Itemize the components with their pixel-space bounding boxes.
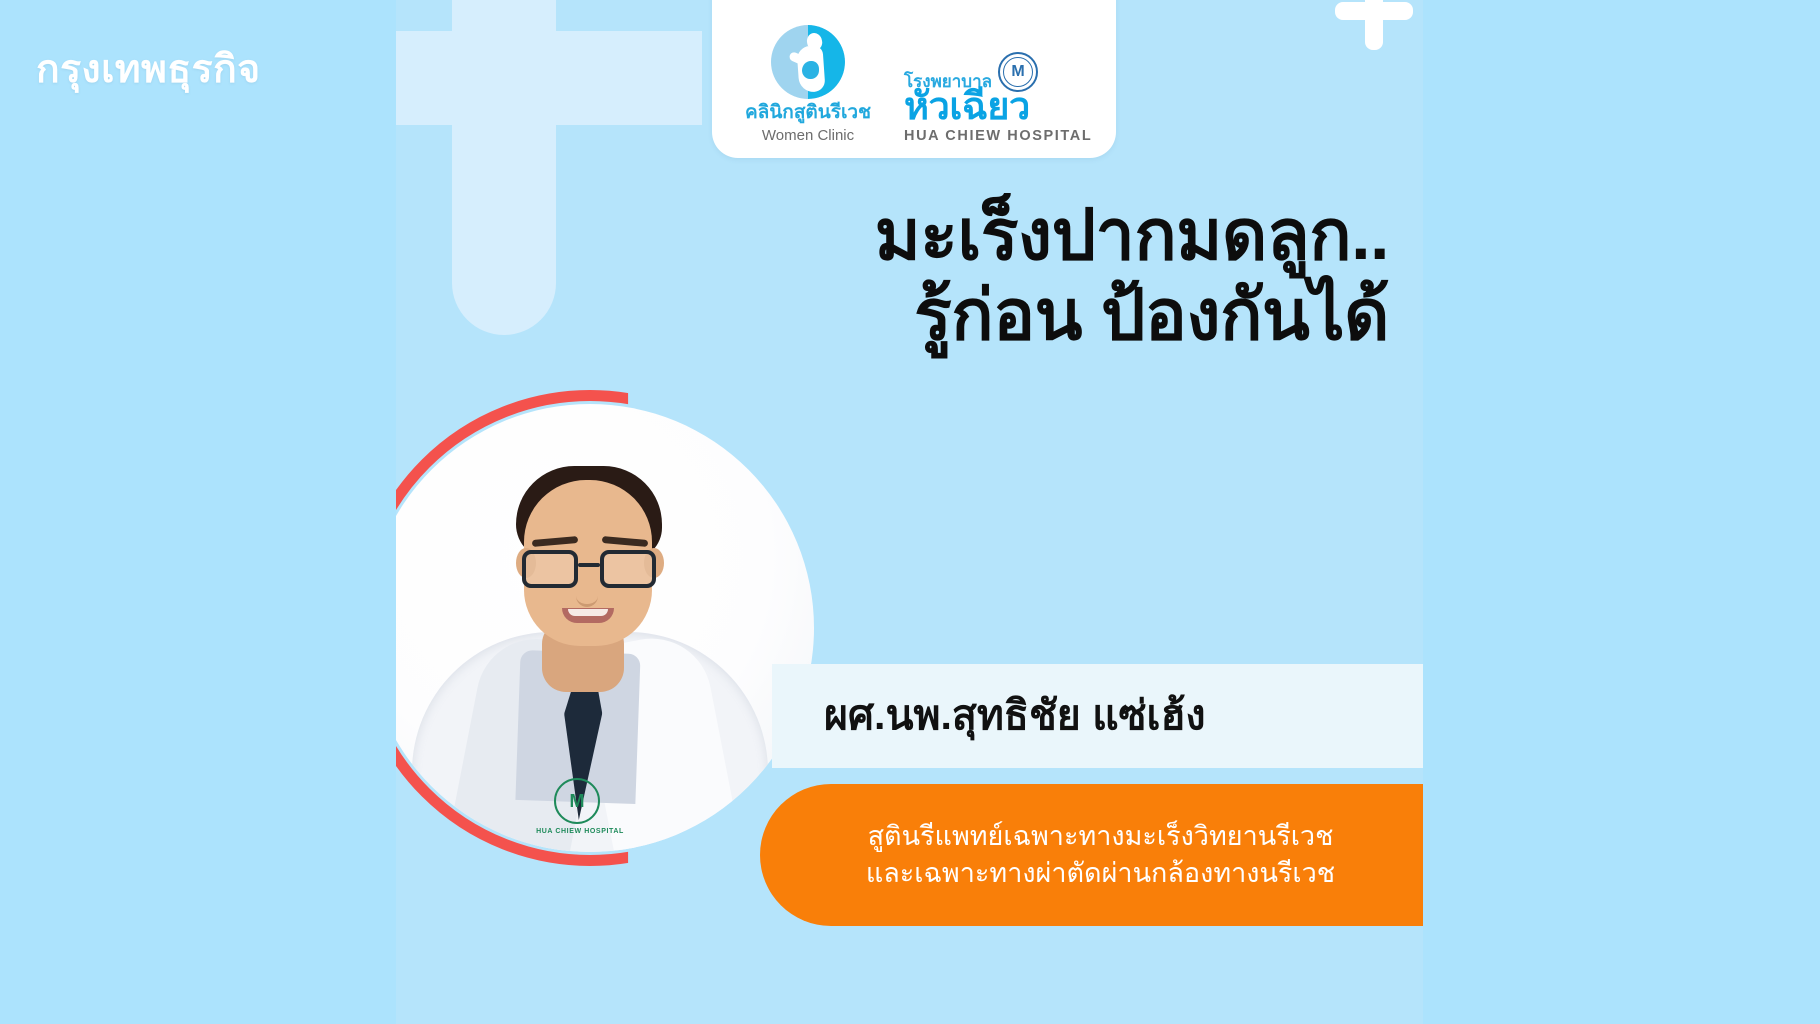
hospital-seal-letter: M <box>1011 64 1024 80</box>
mouth <box>562 608 614 623</box>
coat-badge-icon: M <box>554 778 600 824</box>
hospital-seal-icon: M <box>998 52 1038 92</box>
hospital-logo: โรงพยาบาล M หัวเฉียว HUA CHIEW HOSPITAL <box>904 52 1100 144</box>
doctor-name: ผศ.นพ.สุทธิชัย แซ่เฮ้ง <box>824 693 1206 738</box>
doctor-name-plate: ผศ.นพ.สุทธิชัย แซ่เฮ้ง <box>772 664 1423 768</box>
logo-lockup: คลินิกสูตินรีเวช Women Clinic โรงพยาบาล … <box>714 25 1114 148</box>
headline: มะเร็งปากมดลูก.. รู้ก่อน ป้องกันได้ <box>396 196 1389 356</box>
logo-card: คลินิกสูตินรีเวช Women Clinic โรงพยาบาล … <box>712 0 1116 158</box>
doctor-portrait: M HUA CHIEW HOSPITAL <box>396 390 828 866</box>
clinic-name-en: Women Clinic <box>762 127 854 144</box>
hospital-name-th: หัวเฉียว <box>904 88 1030 127</box>
nose <box>576 582 598 607</box>
headline-line-2: รู้ก่อน ป้องกันได้ <box>396 276 1389 356</box>
poster-panel: คลินิกสูตินรีเวช Women Clinic โรงพยาบาล … <box>396 0 1423 1024</box>
pregnant-woman-emblem-icon <box>771 25 845 99</box>
specialty-line-1: สูตินรีแพทย์เฉพาะทางมะเร็งวิทยานรีเวช <box>868 819 1334 854</box>
plus-horizontal-bar <box>1335 2 1413 20</box>
poster-canvas: กรุงเทพธุรกิจ <box>0 0 1820 1024</box>
specialty-line-2: และเฉพาะทางผ่าตัดผ่านกล้องทางนรีเวช <box>866 856 1335 891</box>
plus-icon <box>1335 0 1413 52</box>
publisher-watermark: กรุงเทพธุรกิจ <box>36 46 261 95</box>
hospital-top-row: โรงพยาบาล M <box>904 52 1038 90</box>
cross-horizontal-bar <box>396 31 702 125</box>
hospital-name-en: HUA CHIEW HOSPITAL <box>904 128 1092 144</box>
poster-bottom-filler <box>396 988 1423 1024</box>
clinic-logo: คลินิกสูตินรีเวช Women Clinic <box>728 25 888 144</box>
headline-line-1: มะเร็งปากมดลูก.. <box>875 196 1389 274</box>
doctor-photo: M HUA CHIEW HOSPITAL <box>396 404 814 852</box>
clinic-name-th: คลินิกสูตินรีเวช <box>745 103 871 124</box>
coat-badge-text: HUA CHIEW HOSPITAL <box>534 828 626 835</box>
doctor-figure: M HUA CHIEW HOSPITAL <box>396 404 814 852</box>
doctor-specialty-banner: สูตินรีแพทย์เฉพาะทางมะเร็งวิทยานรีเวช แล… <box>760 784 1423 926</box>
